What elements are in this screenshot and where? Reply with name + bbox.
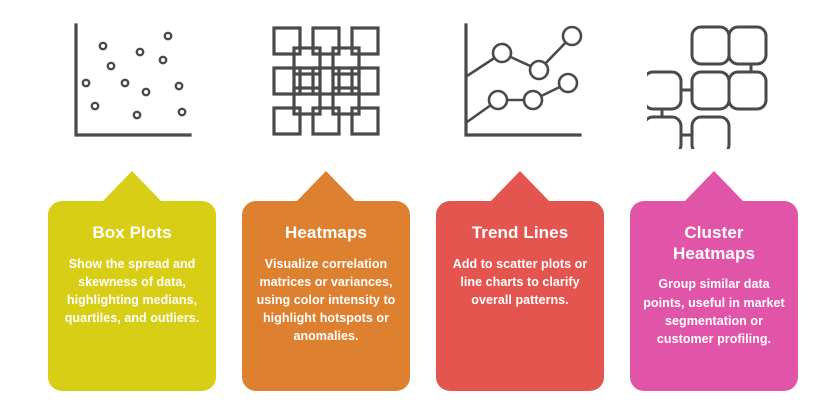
- card-title: Box Plots: [61, 223, 203, 244]
- card-body: Visualize correlation matrices or varian…: [255, 255, 397, 346]
- card-title: Cluster Heatmaps: [643, 223, 785, 264]
- card-pointer-box-plots: [102, 171, 162, 202]
- card-body: Group similar data points, useful in mar…: [643, 275, 785, 348]
- card-title: Heatmaps: [255, 223, 397, 244]
- card-trend-lines[interactable]: Trend Lines Add to scatter plots or line…: [436, 201, 604, 391]
- line-chart-icon: [436, 8, 604, 160]
- cluster-nodes-icon: [630, 8, 798, 160]
- infographic-column-trend-lines: Trend Lines Add to scatter plots or line…: [436, 0, 604, 410]
- card-body: Add to scatter plots or line charts to c…: [449, 255, 591, 309]
- card-pointer-heatmaps: [296, 171, 356, 202]
- grid-heatmap-icon: [242, 8, 410, 160]
- card-body: Show the spread and skewness of data, hi…: [61, 255, 203, 328]
- card-pointer-trend-lines: [490, 171, 550, 202]
- card-box-plots[interactable]: Box Plots Show the spread and skewness o…: [48, 201, 216, 391]
- card-title: Trend Lines: [449, 223, 591, 244]
- card-cluster-heatmaps[interactable]: Cluster Heatmaps Group similar data poin…: [630, 201, 798, 391]
- card-heatmaps[interactable]: Heatmaps Visualize correlation matrices …: [242, 201, 410, 391]
- infographic-column-cluster-heatmaps: Cluster Heatmaps Group similar data poin…: [630, 0, 798, 410]
- scatter-plot-icon: [48, 8, 216, 160]
- infographic-column-box-plots: Box Plots Show the spread and skewness o…: [48, 0, 216, 410]
- infographic-column-heatmaps: Heatmaps Visualize correlation matrices …: [242, 0, 410, 410]
- card-pointer-cluster-heatmaps: [684, 171, 744, 202]
- infographic-board: Box Plots Show the spread and skewness o…: [0, 0, 839, 410]
